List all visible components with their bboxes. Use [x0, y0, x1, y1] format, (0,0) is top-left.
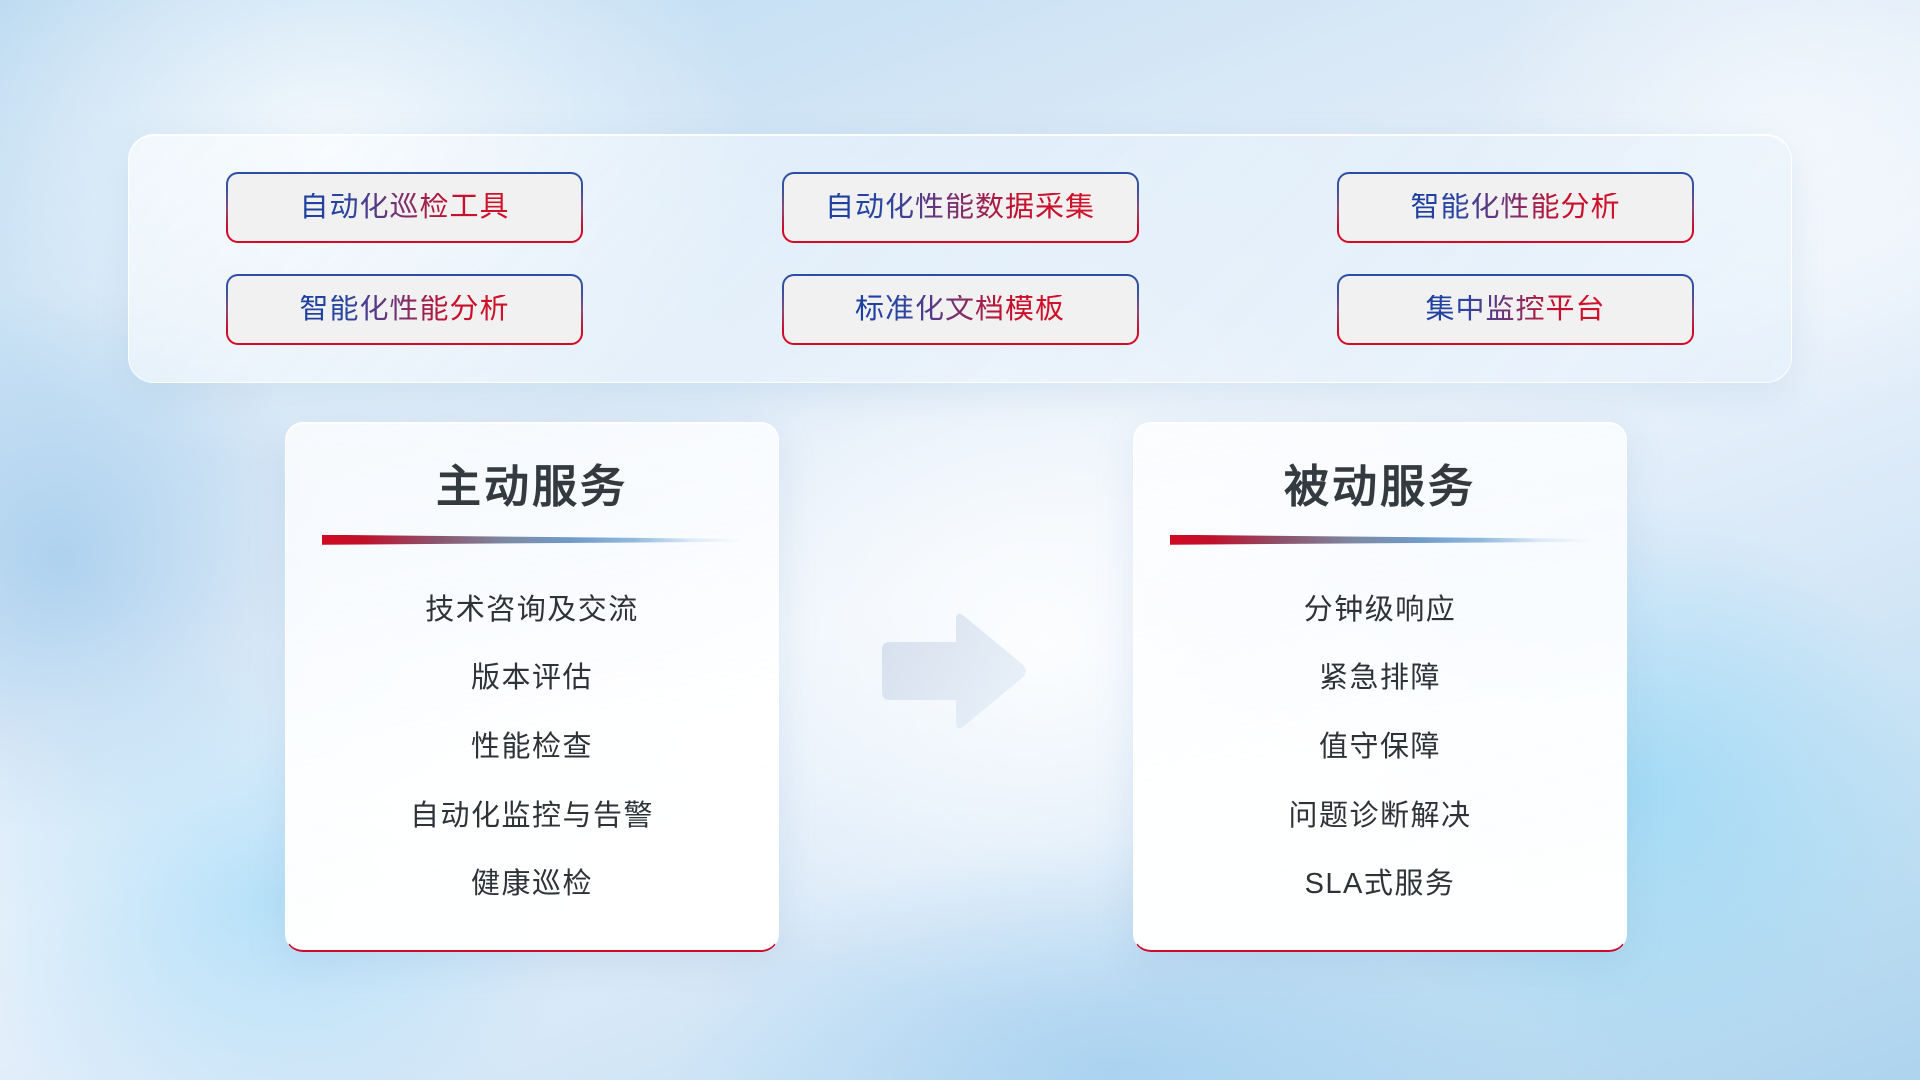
list-item: 技术咨询及交流 [322, 593, 742, 628]
service-card-title: 主动服务 [322, 461, 742, 513]
capability-tag-row-2: 智能化性能分析 标准化文档模板 集中监控平台 [129, 274, 1791, 345]
capability-tag-label: 标准化文档模板 [855, 295, 1065, 324]
service-card-title: 被动服务 [1170, 461, 1590, 513]
service-item-list: 技术咨询及交流 版本评估 性能检查 自动化监控与告警 健康巡检 [322, 545, 742, 950]
service-card-active: 主动服务 技术咨询及交流 版本评估 性能检查 自动化监控与告警 健康巡检 [285, 422, 779, 952]
list-item: 问题诊断解决 [1170, 799, 1590, 834]
capability-tag-intelligent-performance-analysis-a[interactable]: 智能化性能分析 [1337, 172, 1694, 243]
capability-tag-standardized-doc-template[interactable]: 标准化文档模板 [782, 274, 1139, 345]
list-item: 分钟级响应 [1170, 593, 1590, 628]
capability-tag-row-1: 自动化巡检工具 自动化性能数据采集 智能化性能分析 [129, 172, 1791, 243]
list-item: 版本评估 [322, 661, 742, 696]
capability-tag-label: 自动化性能数据采集 [825, 193, 1095, 222]
capability-tag-intelligent-performance-analysis-b[interactable]: 智能化性能分析 [226, 274, 583, 345]
right-arrow-icon [872, 606, 1032, 736]
capability-tags-panel: 自动化巡检工具 自动化性能数据采集 智能化性能分析 智能化性能分析 标准化文档模… [128, 134, 1792, 383]
title-divider [1170, 535, 1590, 545]
slide-canvas: 自动化巡检工具 自动化性能数据采集 智能化性能分析 智能化性能分析 标准化文档模… [0, 0, 1920, 1080]
title-divider [322, 535, 742, 545]
list-item: 紧急排障 [1170, 661, 1590, 696]
list-item: 健康巡检 [322, 867, 742, 902]
capability-tag-centralized-monitoring-platform[interactable]: 集中监控平台 [1337, 274, 1694, 345]
capability-tag-label: 智能化性能分析 [299, 295, 509, 324]
capability-tag-label: 集中监控平台 [1425, 295, 1605, 324]
list-item: 值守保障 [1170, 730, 1590, 765]
capability-tag-automated-inspection-tool[interactable]: 自动化巡检工具 [226, 172, 583, 243]
capability-tag-automated-performance-data-collection[interactable]: 自动化性能数据采集 [782, 172, 1139, 243]
capability-tag-label: 自动化巡检工具 [299, 193, 509, 222]
list-item: 自动化监控与告警 [322, 799, 742, 834]
service-card-passive: 被动服务 分钟级响应 紧急排障 值守保障 问题诊断解决 SLA式服务 [1133, 422, 1627, 952]
service-item-list: 分钟级响应 紧急排障 值守保障 问题诊断解决 SLA式服务 [1170, 545, 1590, 950]
capability-tag-label: 智能化性能分析 [1410, 193, 1620, 222]
list-item: 性能检查 [322, 730, 742, 765]
list-item: SLA式服务 [1170, 867, 1590, 902]
